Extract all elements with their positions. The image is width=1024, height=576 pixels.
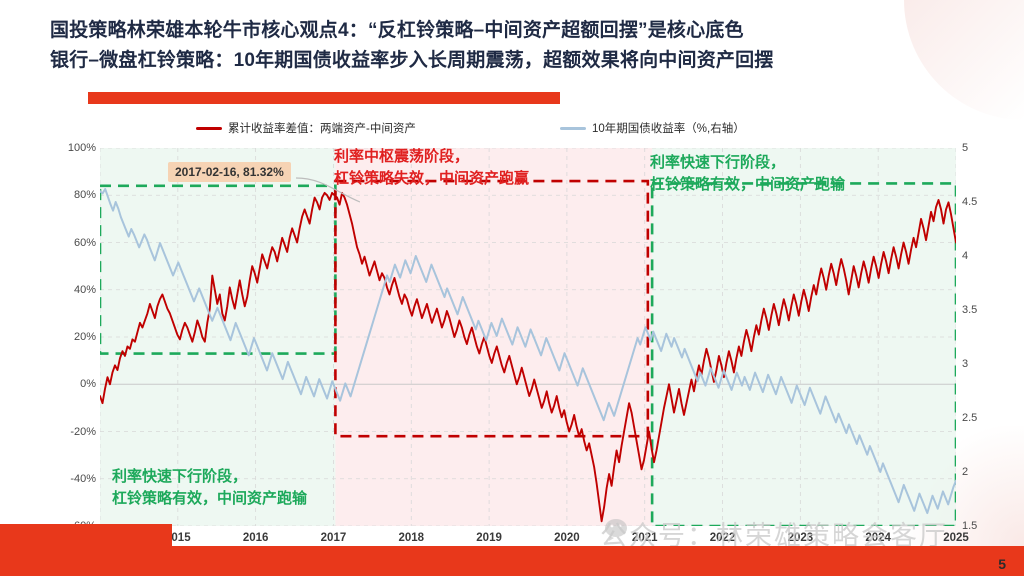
y-tick-left: 0% <box>52 378 96 390</box>
annotation-decline-right-line2: 杠铃策略有效，中间资产跑输 <box>650 174 845 196</box>
y-tick-right: 2.5 <box>962 412 996 424</box>
title-underline-bar <box>88 92 560 104</box>
annotation-oscillation-phase: 利率中枢震荡阶段， 杠铃策略失效，中间资产跑赢 <box>334 146 529 190</box>
page-number: 5 <box>998 556 1006 572</box>
x-tick: 2019 <box>476 532 502 544</box>
title-line-2: 银行–微盘杠铃策略：10年期国债收益率步入长周期震荡，超额效果将向中间资产回摆 <box>50 46 1000 76</box>
chart-legend: 累计收益率差值：两端资产-中间资产 10年期国债收益率（%,右轴） <box>0 120 1024 142</box>
y-tick-left: -40% <box>52 473 96 485</box>
annotation-oscillation-line1: 利率中枢震荡阶段， <box>334 146 529 168</box>
legend-swatch-yield <box>560 127 586 130</box>
footer-accent-step <box>0 524 172 554</box>
legend-item-yield: 10年期国债收益率（%,右轴） <box>560 120 745 136</box>
x-tick: 2018 <box>398 532 424 544</box>
y-tick-left: 100% <box>52 142 96 154</box>
title-line-1: 国投策略林荣雄本轮牛市核心观点4：“反杠铃策略–中间资产超额回摆”是核心底色 <box>50 16 1000 46</box>
y-tick-right: 3 <box>962 358 996 370</box>
annotation-oscillation-line2: 杠铃策略失效，中间资产跑赢 <box>334 168 529 190</box>
annotation-decline-left-line2: 杠铃策略有效，中间资产跑输 <box>112 488 307 510</box>
y-tick-right: 3.5 <box>962 304 996 316</box>
y-tick-right: 5 <box>962 142 996 154</box>
y-tick-left: 20% <box>52 331 96 343</box>
annotation-decline-phase-right: 利率快速下行阶段， 杠铃策略有效，中间资产跑输 <box>650 152 845 196</box>
y-tick-right: 4 <box>962 250 996 262</box>
legend-label-spread: 累计收益率差值：两端资产-中间资产 <box>228 120 416 136</box>
legend-swatch-spread <box>196 127 222 130</box>
y-tick-right: 2 <box>962 466 996 478</box>
y-tick-left: 40% <box>52 284 96 296</box>
y-tick-right: 4.5 <box>962 196 996 208</box>
y-tick-left: 60% <box>52 237 96 249</box>
annotation-decline-right-line1: 利率快速下行阶段， <box>650 152 845 174</box>
tooltip-leader-line <box>296 176 360 204</box>
legend-item-spread: 累计收益率差值：两端资产-中间资产 <box>196 120 416 136</box>
data-point-tooltip: 2017-02-16, 81.32% <box>168 162 291 182</box>
annotation-decline-left-line1: 利率快速下行阶段， <box>112 466 307 488</box>
annotation-decline-phase-left: 利率快速下行阶段， 杠铃策略有效，中间资产跑输 <box>112 466 307 510</box>
y-tick-left: -20% <box>52 426 96 438</box>
page-title: 国投策略林荣雄本轮牛市核心观点4：“反杠铃策略–中间资产超额回摆”是核心底色 银… <box>50 16 1000 76</box>
x-tick: 2016 <box>243 532 269 544</box>
slide-canvas: 国投策略林荣雄本轮牛市核心观点4：“反杠铃策略–中间资产超额回摆”是核心底色 银… <box>0 0 1024 576</box>
x-tick: 2017 <box>321 532 347 544</box>
x-tick: 2020 <box>554 532 580 544</box>
y-tick-left: 80% <box>52 189 96 201</box>
y-tick-right: 1.5 <box>962 520 996 532</box>
legend-label-yield: 10年期国债收益率（%,右轴） <box>592 120 745 136</box>
